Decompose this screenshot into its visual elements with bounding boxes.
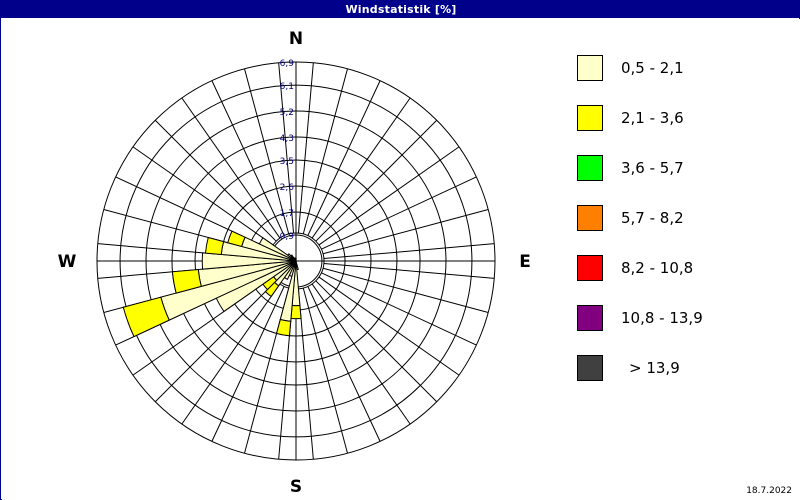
wind-rose-panel: 0,91,72,63,54,35,26,16,9 N E S W (2, 19, 562, 500)
legend-row: 10,8 - 13,9 (577, 293, 792, 343)
legend-label: 8,2 - 10,8 (621, 259, 693, 277)
wind-rose-petal-segment (123, 297, 169, 336)
radial-tick-label: 4,3 (280, 134, 294, 144)
wind-rose-petal-segment (277, 320, 291, 336)
radial-tick-label: 5,2 (280, 108, 294, 118)
grid-spoke (298, 63, 313, 233)
legend-label: 2,1 - 3,6 (621, 109, 684, 127)
legend-swatch (577, 355, 603, 381)
wind-rose-petal-segment (291, 306, 301, 319)
legend-row: 3,6 - 5,7 (577, 143, 792, 193)
windstatistik-window: Windstatistik [%] 0,91,72,63,54,35,26,16… (0, 0, 800, 500)
legend-label: 3,6 - 5,7 (621, 159, 684, 177)
grid-spoke (323, 268, 488, 312)
legend-label: 10,8 - 13,9 (621, 309, 703, 327)
legend-swatch (577, 255, 603, 281)
legend-swatch (577, 105, 603, 131)
legend-swatch (577, 155, 603, 181)
date-stamp: 18.7.2022 (746, 486, 792, 496)
radial-tick-label: 6,9 (280, 59, 295, 69)
grid-spoke (324, 263, 494, 278)
grid-spoke (319, 277, 459, 375)
wind-rose-petals (123, 231, 301, 336)
legend-label: 0,5 - 2,1 (621, 59, 684, 77)
compass-label-west: W (58, 252, 77, 272)
wind-rose-petal-segment (206, 237, 224, 254)
grid-spoke (303, 288, 347, 453)
grid-spoke (323, 210, 488, 254)
grid-spoke (133, 147, 273, 245)
window-titlebar: Windstatistik [%] (1, 1, 800, 18)
radial-tick-label: 2,6 (280, 183, 295, 193)
wind-rose-chart: 0,91,72,63,54,35,26,16,9 N E S W (2, 19, 562, 500)
legend-row: 2,1 - 3,6 (577, 93, 792, 143)
legend-label: > 13,9 (629, 359, 680, 377)
radial-axis-ticks: 0,91,72,63,54,35,26,16,9 (280, 59, 295, 242)
compass-label-south: S (290, 477, 302, 497)
legend-swatch (577, 205, 603, 231)
legend-row: > 13,9 (577, 343, 792, 393)
legend-row: 8,2 - 10,8 (577, 243, 792, 293)
legend-swatch (577, 55, 603, 81)
legend-label: 5,7 - 8,2 (621, 209, 684, 227)
compass-label-east: E (519, 252, 531, 272)
grid-spoke (324, 244, 494, 259)
radial-tick-label: 3,5 (280, 157, 294, 167)
grid-spoke (319, 147, 459, 245)
radial-tick-label: 1,7 (280, 209, 294, 219)
window-content: 0,91,72,63,54,35,26,16,9 N E S W 0,5 - 2… (2, 19, 800, 500)
grid-spoke (312, 98, 410, 238)
radial-tick-label: 6,1 (280, 82, 294, 92)
speed-legend: 0,5 - 2,12,1 - 3,63,6 - 5,75,7 - 8,28,2 … (577, 43, 792, 393)
compass-label-north: N (289, 29, 303, 49)
radial-tick-label: 0,9 (280, 232, 295, 242)
grid-spoke (312, 284, 410, 424)
legend-row: 0,5 - 2,1 (577, 43, 792, 93)
legend-swatch (577, 305, 603, 331)
legend-row: 5,7 - 8,2 (577, 193, 792, 243)
grid-spoke (182, 98, 280, 238)
grid-spoke (303, 69, 347, 234)
